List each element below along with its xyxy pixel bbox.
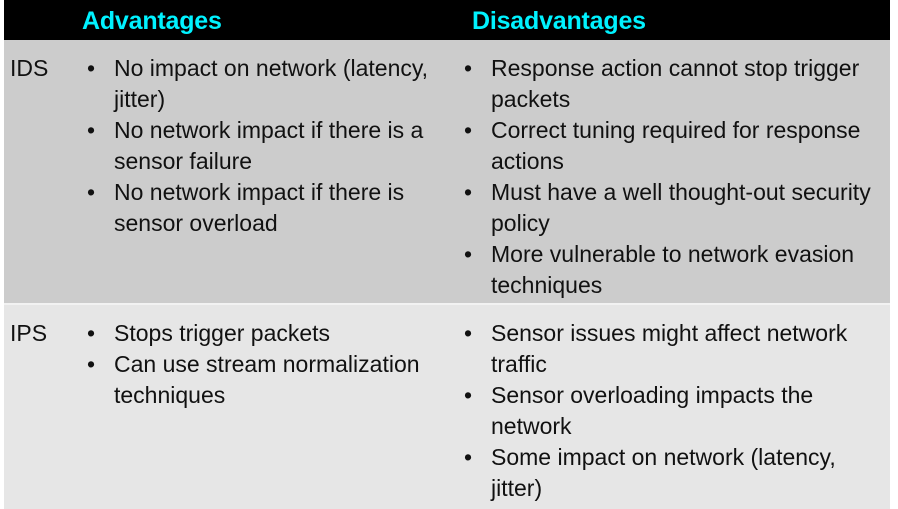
bullet-icon: • (464, 318, 472, 349)
list-item: • No network impact if there is sensor o… (82, 177, 452, 239)
list-item-text: No network impact if there is sensor ove… (114, 177, 452, 239)
bullet-icon: • (464, 115, 472, 146)
list-item-text: Can use stream normalization techniques (114, 349, 452, 411)
table-row-ips: IPS • Stops trigger packets • Can use st… (4, 305, 890, 509)
bullet-icon: • (87, 53, 95, 84)
list-item-text: No impact on network (latency, jitter) (114, 53, 452, 115)
list-item-text: Response action cannot stop trigger pack… (491, 53, 889, 115)
table-header-band: Advantages Disadvantages (4, 0, 890, 40)
row-label-ips: IPS (10, 318, 72, 349)
ips-disadvantages-cell: • Sensor issues might affect network tra… (459, 318, 889, 504)
list-item: • Stops trigger packets (82, 318, 452, 349)
bullet-icon: • (87, 115, 95, 146)
table-row-ids: IDS • No impact on network (latency, jit… (4, 40, 890, 303)
comparison-table-slide: Advantages Disadvantages IDS • No impact… (0, 0, 898, 509)
list-item: • Response action cannot stop trigger pa… (459, 53, 889, 115)
list-item-text: Sensor issues might affect network traff… (491, 318, 889, 380)
column-header-disadvantages: Disadvantages (472, 7, 646, 35)
bullet-icon: • (464, 177, 472, 208)
list-item: • Must have a well thought-out security … (459, 177, 889, 239)
list-item: • Correct tuning required for response a… (459, 115, 889, 177)
list-item-text: Sensor overloading impacts the network (491, 380, 889, 442)
bullet-icon: • (87, 318, 95, 349)
list-item: • Can use stream normalization technique… (82, 349, 452, 411)
bullet-icon: • (464, 53, 472, 84)
ids-disadvantages-cell: • Response action cannot stop trigger pa… (459, 53, 889, 301)
bullet-icon: • (87, 349, 95, 380)
bullet-icon: • (464, 442, 472, 473)
ips-advantages-cell: • Stops trigger packets • Can use stream… (82, 318, 452, 411)
list-item-text: No network impact if there is a sensor f… (114, 115, 452, 177)
list-item: • No network impact if there is a sensor… (82, 115, 452, 177)
bullet-icon: • (87, 177, 95, 208)
list-item-text: Some impact on network (latency, jitter) (491, 442, 889, 504)
list-item: • No impact on network (latency, jitter) (82, 53, 452, 115)
list-item: • Sensor issues might affect network tra… (459, 318, 889, 380)
list-item: • More vulnerable to network evasion tec… (459, 239, 889, 301)
column-header-advantages: Advantages (82, 7, 222, 35)
list-item-text: Stops trigger packets (114, 318, 452, 349)
ids-advantages-cell: • No impact on network (latency, jitter)… (82, 53, 452, 239)
row-label-ids: IDS (10, 53, 72, 84)
list-item-text: Correct tuning required for response act… (491, 115, 889, 177)
list-item-text: More vulnerable to network evasion techn… (491, 239, 889, 301)
bullet-icon: • (464, 380, 472, 411)
list-item: • Sensor overloading impacts the network (459, 380, 889, 442)
list-item: • Some impact on network (latency, jitte… (459, 442, 889, 504)
bullet-icon: • (464, 239, 472, 270)
list-item-text: Must have a well thought-out security po… (491, 177, 889, 239)
